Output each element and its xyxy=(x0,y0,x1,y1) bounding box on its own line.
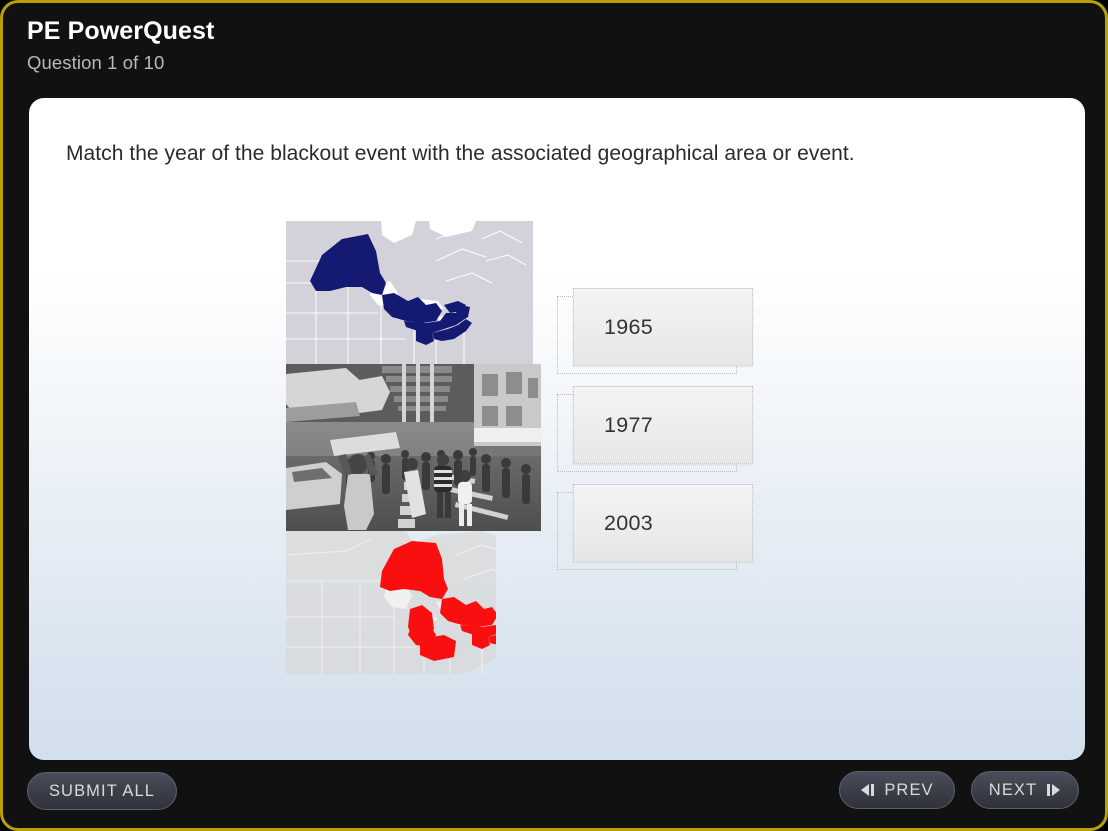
answer-column: 1965 1977 2003 xyxy=(557,288,787,582)
next-bar-triangle-icon xyxy=(1046,784,1061,796)
street-photo-svg xyxy=(286,364,541,531)
prev-button[interactable]: PREV xyxy=(839,771,955,809)
footer: SUBMIT ALL PREV NEXT xyxy=(3,754,1105,828)
stimulus-image-map-red[interactable] xyxy=(286,531,496,674)
prev-triangle-bar-icon xyxy=(860,784,875,796)
answer-tile-label: 2003 xyxy=(604,511,653,536)
answer-tile-2003[interactable]: 2003 xyxy=(573,484,753,562)
answer-group-2: 2003 xyxy=(557,484,757,582)
answer-group-0: 1965 xyxy=(557,288,757,386)
page-title: PE PowerQuest xyxy=(27,15,1105,47)
prev-label: PREV xyxy=(884,781,933,800)
answer-tile-1965[interactable]: 1965 xyxy=(573,288,753,366)
submit-all-label: SUBMIT ALL xyxy=(49,782,155,801)
question-counter: Question 1 of 10 xyxy=(27,50,1105,76)
map-red-svg xyxy=(286,531,496,674)
stimulus-column xyxy=(286,221,569,674)
submit-all-button[interactable]: SUBMIT ALL xyxy=(27,772,177,810)
map-navy-svg xyxy=(286,221,533,364)
navigation-buttons: PREV NEXT xyxy=(829,754,1079,828)
next-label: NEXT xyxy=(989,781,1037,800)
next-button[interactable]: NEXT xyxy=(971,771,1079,809)
answer-tile-1977[interactable]: 1977 xyxy=(573,386,753,464)
stimulus-image-street-photo[interactable] xyxy=(286,364,541,531)
answer-tile-label: 1965 xyxy=(604,315,653,340)
answer-tile-label: 1977 xyxy=(604,413,653,438)
header: PE PowerQuest Question 1 of 10 xyxy=(3,3,1105,95)
answer-group-1: 1977 xyxy=(557,386,757,484)
app-window: PE PowerQuest Question 1 of 10 Match the… xyxy=(0,0,1108,831)
content-panel: Match the year of the blackout event wit… xyxy=(29,98,1085,760)
question-prompt: Match the year of the blackout event wit… xyxy=(66,140,1056,168)
stimulus-image-map-navy[interactable] xyxy=(286,221,533,364)
